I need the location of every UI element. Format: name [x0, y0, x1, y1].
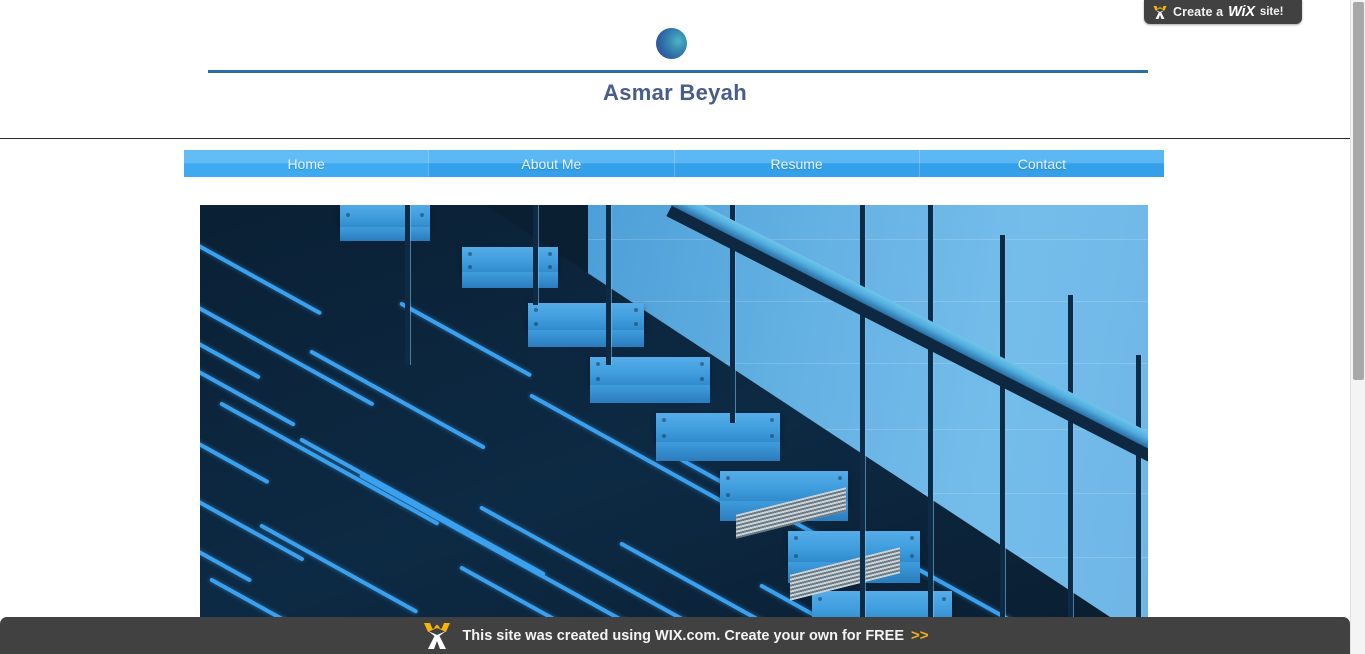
- nav-item-home[interactable]: Home: [184, 150, 428, 177]
- nav-item-label: Home: [287, 156, 324, 172]
- baluster: [1000, 235, 1005, 617]
- baluster: [1136, 355, 1141, 617]
- stair-tread: [528, 303, 644, 332]
- header-divider: [0, 138, 1350, 139]
- wix-logo-icon: [1152, 5, 1168, 20]
- create-wix-site-badge[interactable]: Create a WiX site!: [1144, 0, 1302, 24]
- footer-text: This site was created using WIX.com. Cre…: [462, 628, 904, 644]
- nav-item-contact[interactable]: Contact: [919, 150, 1164, 177]
- nav-item-label: About Me: [521, 156, 581, 172]
- baluster: [860, 205, 865, 617]
- nav-item-label: Resume: [771, 156, 823, 172]
- main-navigation: Home About Me Resume Contact: [184, 150, 1164, 177]
- vertical-scrollbar-track[interactable]: [1350, 0, 1365, 654]
- page-root: Asmar Beyah Home About Me Resume Contact: [0, 0, 1365, 654]
- hero-image-blue-stairs: [200, 205, 1148, 617]
- wix-logo-icon: [421, 621, 453, 651]
- baluster: [533, 205, 538, 305]
- baluster: [405, 205, 410, 365]
- browser-viewport: Asmar Beyah Home About Me Resume Contact: [0, 0, 1350, 654]
- stair-tread: [656, 413, 780, 444]
- nav-item-label: Contact: [1018, 156, 1066, 172]
- baluster: [1068, 295, 1073, 617]
- vertical-scrollbar-thumb[interactable]: [1353, 2, 1364, 380]
- badge-brand: WiX: [1228, 4, 1255, 20]
- baluster: [606, 205, 611, 365]
- baluster: [928, 205, 933, 617]
- stair-tread: [462, 247, 558, 274]
- nav-item-about-me[interactable]: About Me: [428, 150, 673, 177]
- wix-footer-banner[interactable]: This site was created using WIX.com. Cre…: [0, 617, 1350, 654]
- header-horizontal-rule: [208, 70, 1148, 73]
- nav-item-resume[interactable]: Resume: [674, 150, 919, 177]
- badge-text-before: Create a: [1173, 5, 1223, 19]
- page-title: Asmar Beyah: [0, 80, 1350, 106]
- footer-arrows[interactable]: >>: [911, 627, 929, 644]
- gradient-circle-logo-icon: [656, 28, 687, 59]
- badge-text-after: site!: [1260, 6, 1284, 18]
- stair-tread: [340, 205, 430, 229]
